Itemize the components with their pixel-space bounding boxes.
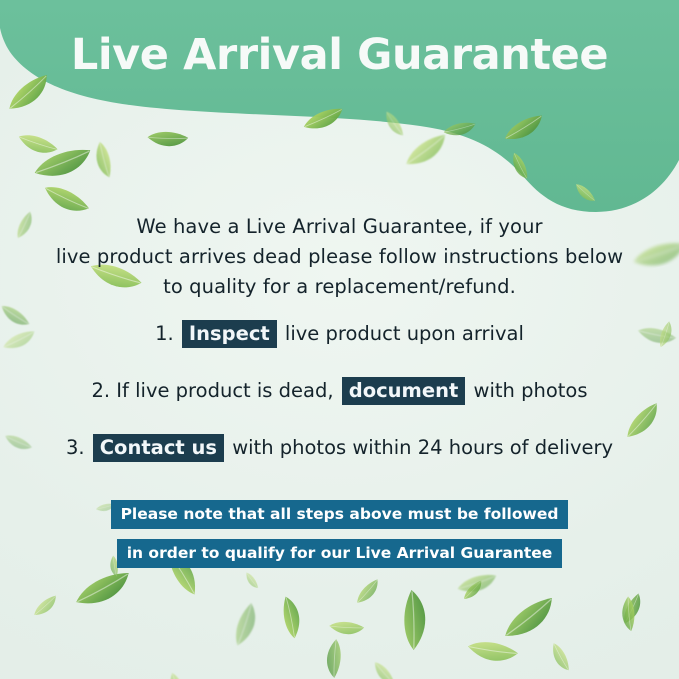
- note-banner-line-2: in order to qualify for our Live Arrival…: [117, 539, 563, 568]
- step-text-after: with photos within 24 hours of delivery: [232, 436, 613, 459]
- intro-line-1: We have a Live Arrival Guarantee, if you…: [0, 212, 679, 242]
- page-title: Live Arrival Guarantee: [0, 29, 679, 81]
- step-number: 1.: [155, 322, 174, 345]
- step-text-before: If live product is dead,: [116, 379, 333, 402]
- intro-paragraph: We have a Live Arrival Guarantee, if you…: [0, 212, 679, 302]
- live-arrival-guarantee-poster: Live Arrival Guarantee We have a Live Ar…: [0, 0, 679, 679]
- list-item: 1. Inspect live product upon arrival: [0, 320, 679, 348]
- step-highlight-contact-us: Contact us: [93, 434, 224, 462]
- step-number: 2.: [91, 379, 110, 402]
- intro-line-3: to quality for a replacement/refund.: [0, 272, 679, 302]
- instruction-steps-list: 1. Inspect live product upon arrival 2. …: [0, 320, 679, 491]
- step-highlight-document: document: [342, 377, 466, 405]
- list-item: 3. Contact us with photos within 24 hour…: [0, 434, 679, 462]
- step-text-after: with photos: [474, 379, 588, 402]
- step-number: 3.: [66, 436, 85, 459]
- note-banner: Please note that all steps above must be…: [0, 500, 679, 578]
- list-item: 2. If live product is dead, document wit…: [0, 377, 679, 405]
- step-highlight-inspect: Inspect: [182, 320, 277, 348]
- intro-line-2: live product arrives dead please follow …: [0, 242, 679, 272]
- note-banner-line-1: Please note that all steps above must be…: [111, 500, 569, 529]
- step-text-after: live product upon arrival: [285, 322, 524, 345]
